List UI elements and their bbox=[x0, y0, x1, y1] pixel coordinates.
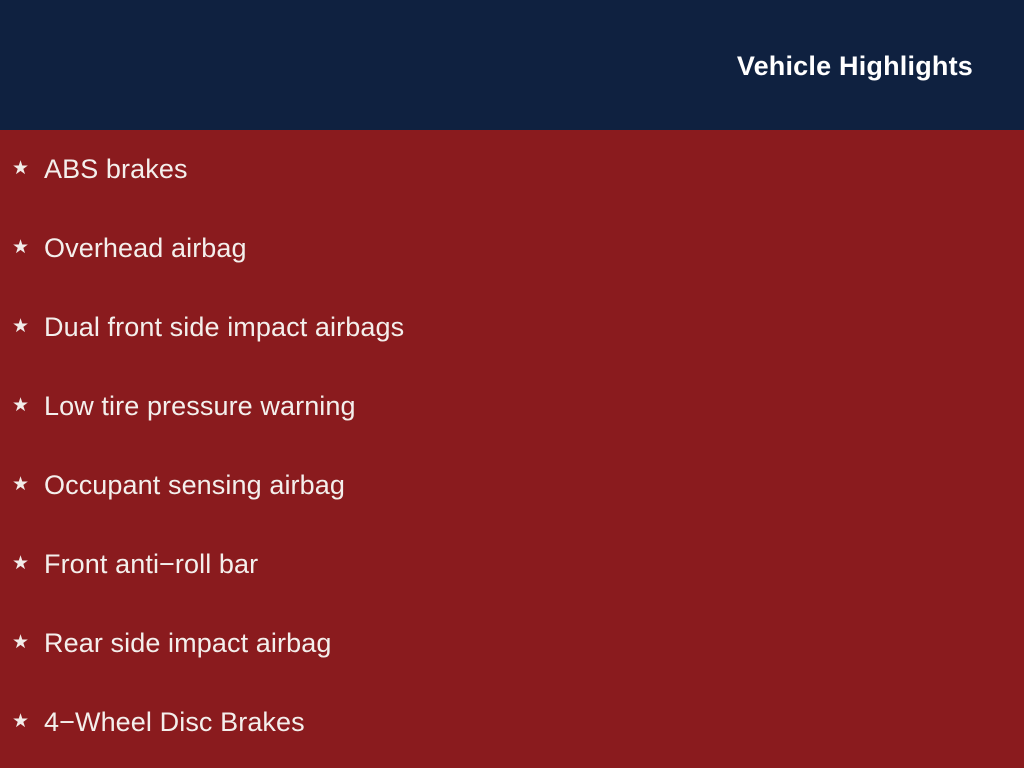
star-icon: ★ bbox=[12, 712, 44, 731]
vehicle-highlights-list: ★ ABS brakes ★ Overhead airbag ★ Dual fr… bbox=[0, 130, 1024, 762]
star-icon: ★ bbox=[12, 159, 44, 178]
slide-header: Vehicle Highlights bbox=[0, 0, 1024, 130]
star-icon: ★ bbox=[12, 396, 44, 415]
list-item: ★ Front anti−roll bar bbox=[0, 525, 1024, 604]
star-icon: ★ bbox=[12, 633, 44, 652]
list-item-label: Overhead airbag bbox=[44, 234, 247, 264]
list-item-label: Occupant sensing airbag bbox=[44, 471, 345, 501]
list-item: ★ Low tire pressure warning bbox=[0, 367, 1024, 446]
star-icon: ★ bbox=[12, 475, 44, 494]
page-title: Vehicle Highlights bbox=[737, 53, 973, 80]
list-item-label: Dual front side impact airbags bbox=[44, 313, 404, 343]
star-icon: ★ bbox=[12, 238, 44, 257]
vehicle-highlights-slide: Vehicle Highlights ★ ABS brakes ★ Overhe… bbox=[0, 0, 1024, 768]
list-item-label: Front anti−roll bar bbox=[44, 550, 258, 580]
list-item: ★ Overhead airbag bbox=[0, 209, 1024, 288]
list-item: ★ ABS brakes bbox=[0, 130, 1024, 209]
star-icon: ★ bbox=[12, 554, 44, 573]
slide-body: ★ ABS brakes ★ Overhead airbag ★ Dual fr… bbox=[0, 130, 1024, 768]
list-item-label: ABS brakes bbox=[44, 155, 188, 185]
list-item-label: Rear side impact airbag bbox=[44, 629, 331, 659]
list-item: ★ Rear side impact airbag bbox=[0, 604, 1024, 683]
list-item-label: Low tire pressure warning bbox=[44, 392, 356, 422]
star-icon: ★ bbox=[12, 317, 44, 336]
list-item: ★ Dual front side impact airbags bbox=[0, 288, 1024, 367]
list-item: ★ Occupant sensing airbag bbox=[0, 446, 1024, 525]
list-item: ★ 4−Wheel Disc Brakes bbox=[0, 683, 1024, 762]
list-item-label: 4−Wheel Disc Brakes bbox=[44, 708, 305, 738]
